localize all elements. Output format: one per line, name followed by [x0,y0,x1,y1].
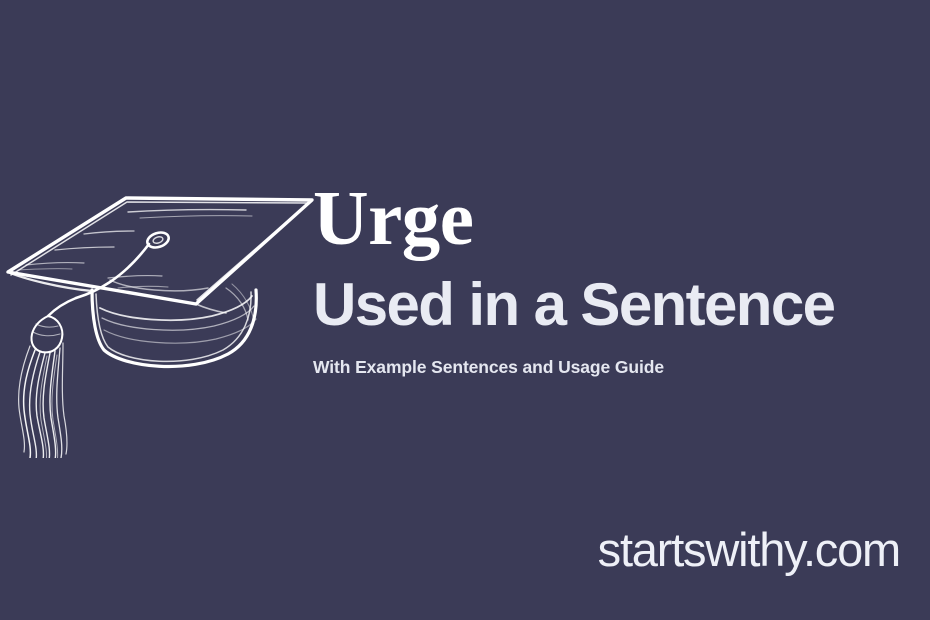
graduation-cap-illustration [0,168,320,458]
page-tagline: With Example Sentences and Usage Guide [313,335,913,378]
graduation-cap-icon [0,168,320,458]
poster-canvas: Urge Used in a Sentence With Example Sen… [0,0,930,620]
page-headline: Used in a Sentence [313,255,913,335]
page-title-word: Urge [313,182,913,255]
title-text-block: Urge Used in a Sentence With Example Sen… [313,182,913,378]
site-brand-wordmark: startswithy.com [598,522,900,577]
